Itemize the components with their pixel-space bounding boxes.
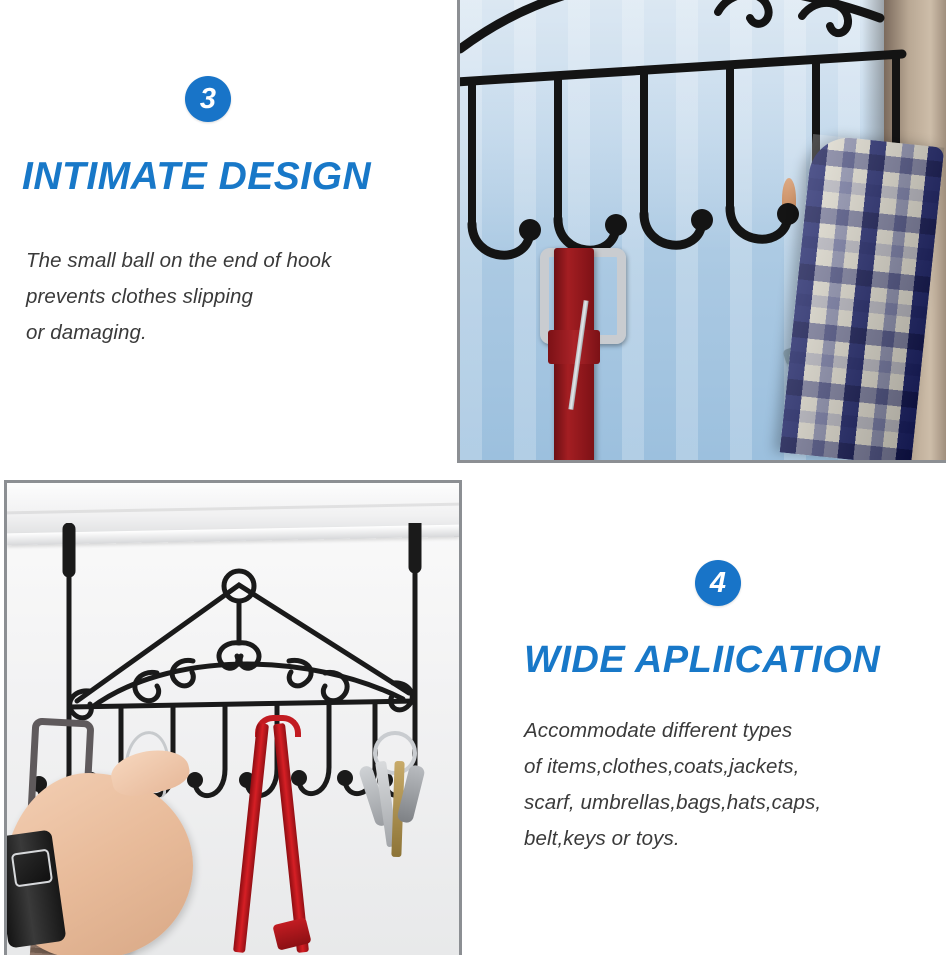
section-headline-wide-application: WIDE APLIICATION <box>524 639 880 682</box>
photo-scene-top <box>460 0 946 460</box>
wrist-watch-face <box>11 849 53 888</box>
body-line: of items,clothes,coats,jackets, <box>524 749 821 785</box>
body-line: scarf, umbrellas,bags,hats,caps, <box>524 785 821 821</box>
body-line: belt,keys or toys. <box>524 821 821 857</box>
product-infographic-page: 3 INTIMATE DESIGN The small ball on the … <box>0 0 946 955</box>
body-line: Accommodate different types <box>524 713 821 749</box>
section-body-wide-application: Accommodate different types of items,clo… <box>524 713 821 857</box>
step-badge-4: 4 <box>695 560 741 606</box>
product-photo-hooks-with-belt-and-shirt <box>457 0 946 463</box>
belt-loop <box>548 330 600 364</box>
step-badge-3: 3 <box>185 76 231 122</box>
body-line: The small ball on the end of hook <box>26 243 331 279</box>
section-body-intimate-design: The small ball on the end of hook preven… <box>26 243 331 351</box>
body-line: or damaging. <box>26 315 331 351</box>
photo-scene-bottom <box>7 483 459 955</box>
product-photo-rack-with-umbrella-and-keys <box>4 480 462 955</box>
section-headline-intimate-design: INTIMATE DESIGN <box>22 155 371 199</box>
body-line: prevents clothes slipping <box>26 279 331 315</box>
